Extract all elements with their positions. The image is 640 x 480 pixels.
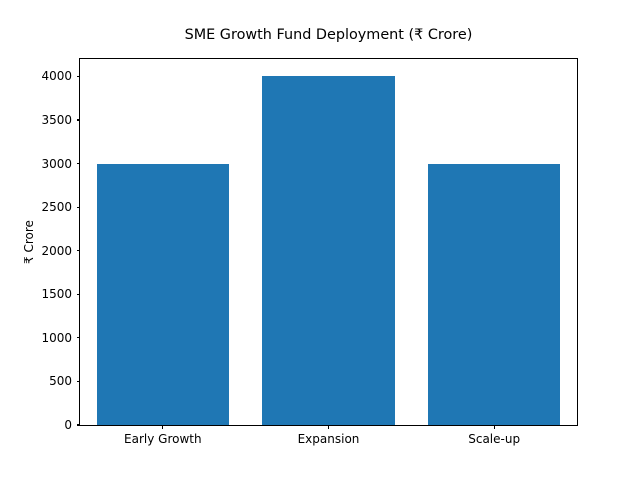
y-tick-label: 1500 [41, 287, 72, 301]
x-tick-label: Scale-up [468, 432, 520, 446]
y-axis-label: ₹ Crore [22, 58, 36, 426]
x-tick-mark [162, 425, 163, 429]
y-tick-label: 4000 [41, 69, 72, 83]
bar[interactable] [97, 164, 230, 425]
y-tick-label: 2500 [41, 200, 72, 214]
chart-title: SME Growth Fund Deployment (₹ Crore) [79, 26, 578, 44]
x-tick-mark [494, 425, 495, 429]
x-tick-label: Expansion [298, 432, 360, 446]
y-tick-label: 500 [49, 374, 72, 388]
bar[interactable] [262, 76, 395, 425]
y-tick-label: 2000 [41, 244, 72, 258]
y-tick-label: 0 [64, 418, 72, 432]
plot-area: 05001000150020002500300035004000 Early G… [79, 58, 578, 426]
y-tick-label: 1000 [41, 331, 72, 345]
y-tick-label: 3500 [41, 113, 72, 127]
x-tick-label: Early Growth [124, 432, 202, 446]
bars-layer [80, 59, 577, 425]
bar[interactable] [428, 164, 561, 425]
chart-figure: SME Growth Fund Deployment (₹ Crore) ₹ C… [0, 0, 640, 480]
y-tick-label: 3000 [41, 157, 72, 171]
x-tick-mark [328, 425, 329, 429]
